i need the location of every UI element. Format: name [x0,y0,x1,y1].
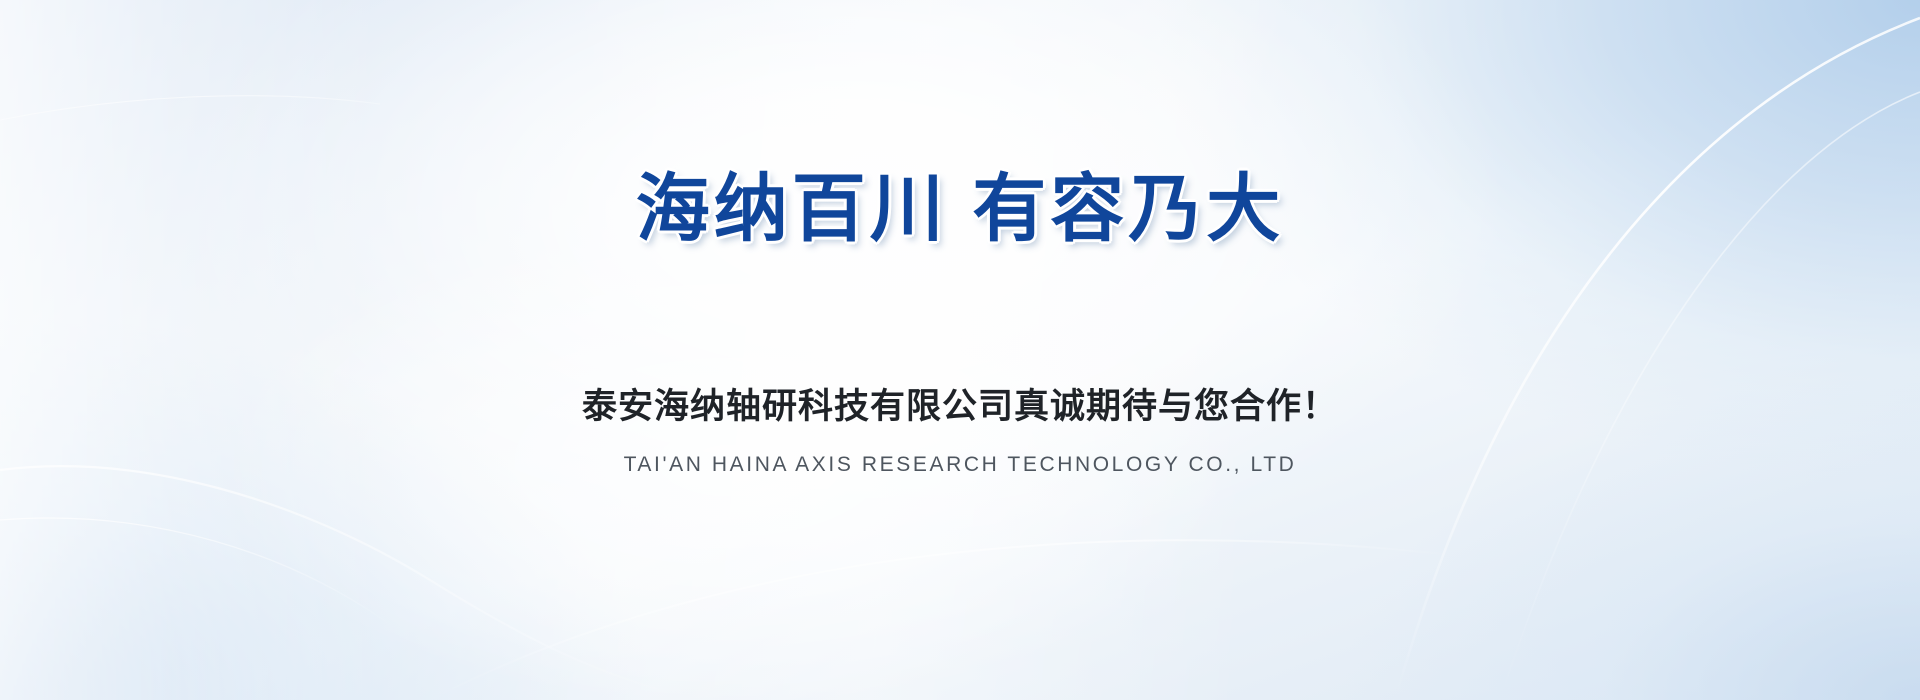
banner-content: 海纳百川 有容乃大 泰安海纳轴研科技有限公司真诚期待与您合作！ TAI'AN H… [0,0,1920,700]
banner-subtitle-chinese: 泰安海纳轴研科技有限公司真诚期待与您合作！ [0,386,1920,428]
banner-subtitle-english: TAI'AN HAINA AXIS RESEARCH TECHNOLOGY CO… [0,452,1920,477]
banner-headline: 海纳百川 有容乃大 [0,170,1920,248]
hero-banner: 海纳百川 有容乃大 泰安海纳轴研科技有限公司真诚期待与您合作！ TAI'AN H… [0,0,1920,700]
